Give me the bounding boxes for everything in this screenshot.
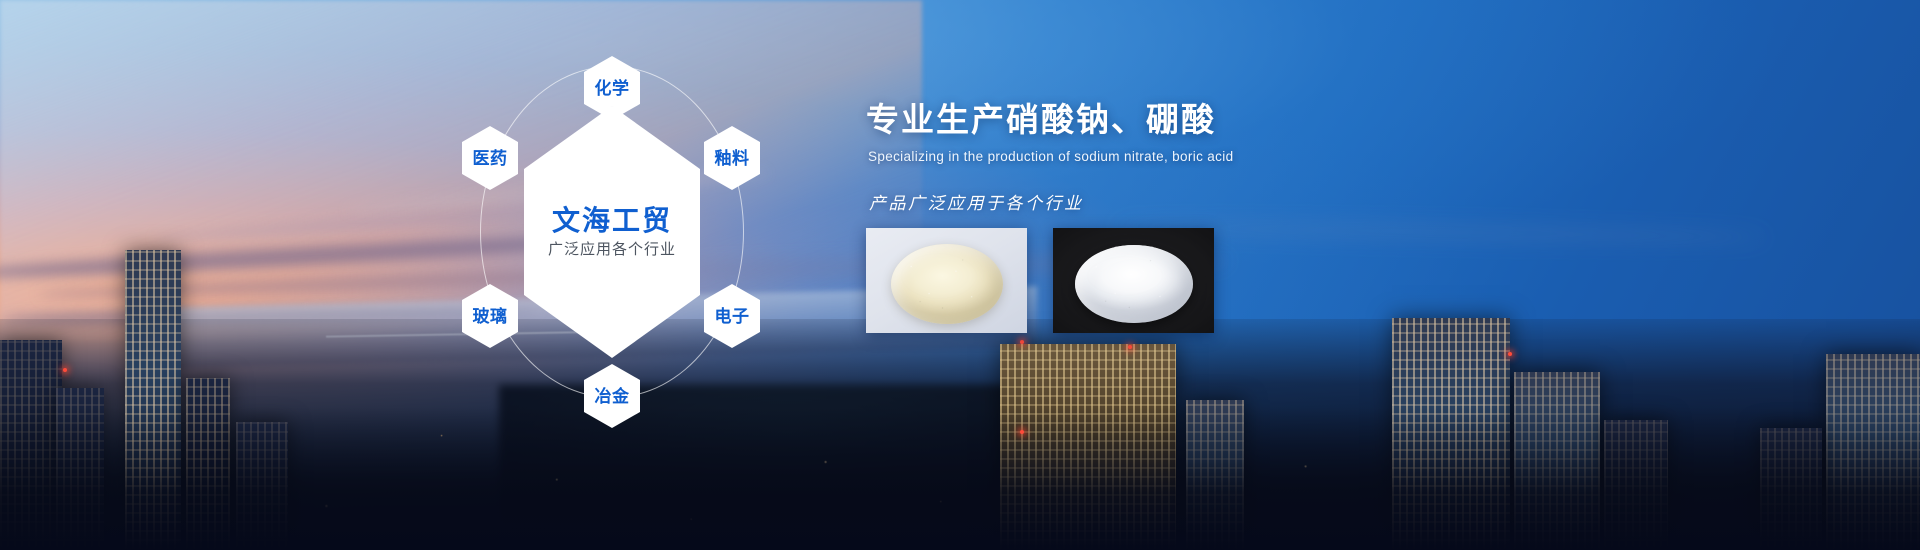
copy-block: 专业生产硝酸钠、硼酸 Specializing in the productio… bbox=[866, 101, 1506, 214]
antenna-light bbox=[1020, 430, 1024, 434]
tagline: 产品广泛应用于各个行业 bbox=[869, 189, 1506, 214]
powder-grain-texture bbox=[891, 244, 1003, 324]
headline: 专业生产硝酸钠、硼酸 bbox=[866, 101, 1506, 140]
brand-name: 文海工贸 bbox=[552, 207, 672, 235]
product-photo-boric-acid[interactable] bbox=[1053, 228, 1214, 333]
powder-pile bbox=[891, 244, 1003, 324]
hex-node-label: 化学 bbox=[595, 80, 630, 97]
antenna-light bbox=[63, 368, 67, 372]
hex-node-label: 医药 bbox=[473, 150, 508, 167]
hex-node-label: 冶金 bbox=[595, 388, 630, 405]
hex-node-label: 电子 bbox=[715, 308, 750, 325]
applications-diagram: 化学 釉料 电子 冶金 玻璃 医药 文海工贸 广泛应用各个行业 bbox=[432, 22, 792, 442]
promo-banner: 化学 釉料 电子 冶金 玻璃 医药 文海工贸 广泛应用各个行业 专业生产硝酸钠、… bbox=[0, 0, 1920, 550]
hex-node-label: 玻璃 bbox=[473, 308, 508, 325]
powder-grain-texture bbox=[1075, 245, 1193, 323]
product-photo-sodium-nitrate[interactable] bbox=[866, 228, 1027, 333]
hex-node-label: 釉料 bbox=[715, 150, 750, 167]
powder-pile bbox=[1075, 245, 1193, 323]
foreground-shadow bbox=[0, 407, 1920, 550]
brand-tagline: 广泛应用各个行业 bbox=[548, 242, 676, 257]
antenna-light bbox=[1508, 352, 1512, 356]
antenna-light bbox=[1020, 340, 1024, 344]
sub-headline: Specializing in the production of sodium… bbox=[868, 149, 1506, 164]
antenna-light bbox=[1128, 345, 1132, 349]
product-photo-group bbox=[866, 228, 1214, 333]
